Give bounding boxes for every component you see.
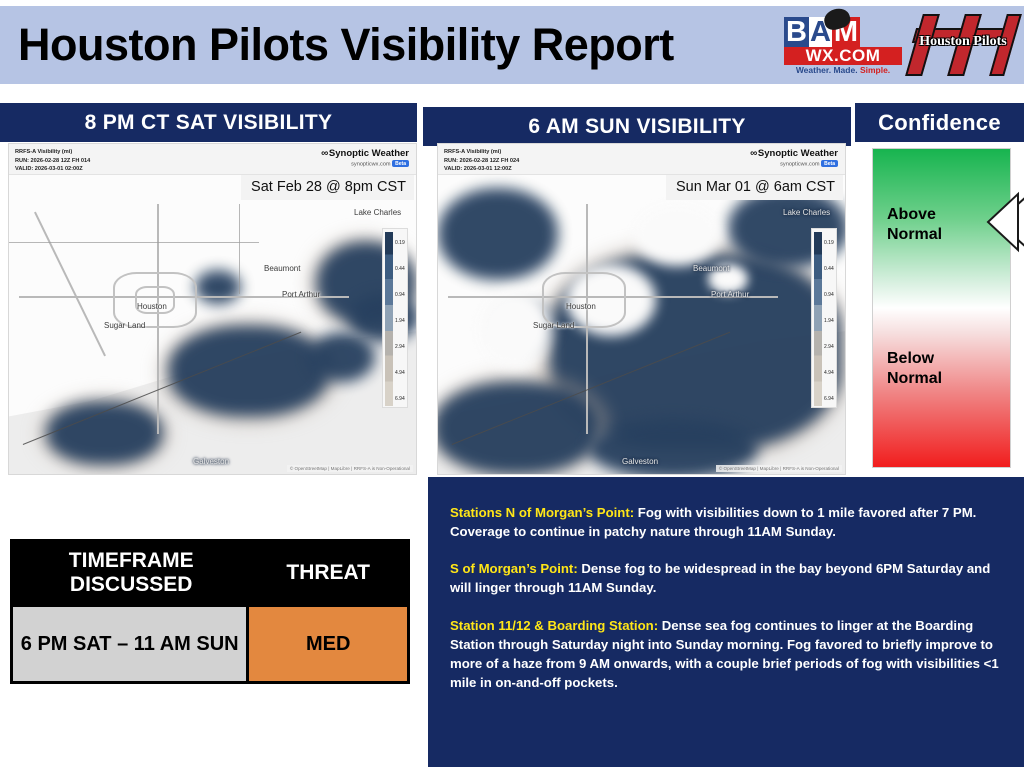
city-label-lake-charles: Lake Charles	[783, 208, 830, 217]
table-header-threat: THREAT	[249, 542, 407, 604]
city-label-port-arthur: Port Arthur	[711, 290, 749, 299]
bamwx-letter-b: B	[784, 17, 809, 47]
discussion-panel: Stations N of Morgan’s Point: Fog with v…	[428, 477, 1024, 767]
map-attribution-saturday: © OpenStreetMap | MapLibre | RRFS-A is N…	[287, 465, 413, 472]
tagline-simple: Simple.	[860, 65, 890, 75]
colorbar-gradient	[385, 232, 393, 406]
discussion-label-3: Station 11/12 & Boarding Station:	[450, 618, 658, 633]
logo-group: B A M WX.COM Weather. Made. Simple. Hous…	[774, 8, 1020, 82]
report-page: Houston Pilots Visibility Report B A M W…	[0, 0, 1024, 767]
panel-title-sun-visibility: 6 AM SUN VISIBILITY	[423, 107, 851, 146]
city-label-sugar-land: Sugar Land	[104, 321, 145, 330]
brand-name: ∞ Synoptic Weather	[750, 148, 838, 159]
meta-product: RRFS-A Visibility (mi)	[444, 148, 519, 157]
discussion-label-1: Stations N of Morgan’s Point:	[450, 505, 634, 520]
colorbar-tick-0: 0.19	[824, 240, 834, 246]
map-timestamp-sunday: Sun Mar 01 @ 6am CST	[666, 175, 843, 200]
colorbar-tick-6: 6.94	[824, 396, 834, 402]
county-line-2	[239, 204, 240, 294]
meta-product: RRFS-A Visibility (mi)	[15, 148, 90, 157]
infinity-icon: ∞	[750, 148, 755, 159]
brand-name: ∞ Synoptic Weather	[321, 148, 409, 159]
colorbar-tick-1: 0.44	[824, 266, 834, 272]
brand-url: synopticwx.com	[780, 162, 819, 168]
colorbar-ticks: 0.19 0.44 0.94 1.94 2.94 4.94 6.94	[395, 232, 409, 406]
city-label-beaumont: Beaumont	[693, 264, 729, 273]
city-label-port-arthur: Port Arthur	[282, 290, 320, 299]
confidence-label-above: Above Normal	[887, 205, 942, 245]
bamwx-domain: WX.COM	[784, 47, 902, 65]
map-attribution-sunday: © OpenStreetMap | MapLibre | RRFS-A is N…	[716, 465, 842, 472]
confidence-label-below: Below Normal	[887, 349, 942, 389]
header-timeframe-line2: DISCUSSED	[70, 573, 193, 596]
colorbar-tick-5: 4.94	[395, 370, 405, 376]
map-timestamp-saturday: Sat Feb 28 @ 8pm CST	[241, 175, 414, 200]
map-meta-strip: RRFS-A Visibility (mi) RUN: 2026-02-28 1…	[9, 144, 416, 175]
colorbar-tick-6: 6.94	[395, 396, 405, 402]
bamwx-logo: B A M WX.COM Weather. Made. Simple.	[774, 8, 902, 82]
colorbar-gradient	[814, 232, 822, 406]
meta-valid: VALID: 2026-03-01 12:00Z	[444, 165, 519, 174]
meta-valid: VALID: 2026-03-01 02:00Z	[15, 165, 90, 174]
visibility-colorbar-sunday: 0.19 0.44 0.94 1.94 2.94 4.94 6.94	[811, 228, 837, 408]
city-label-lake-charles: Lake Charles	[354, 208, 401, 217]
city-label-galveston: Galveston	[193, 457, 229, 466]
brand-name-text: Synoptic Weather	[758, 148, 838, 159]
infinity-icon: ∞	[321, 148, 326, 159]
brand-url-row: synopticwx.com Beta	[321, 160, 409, 168]
meta-run: RUN: 2026-02-28 12Z FH 014	[15, 157, 90, 166]
discussion-item-1: Stations N of Morgan’s Point: Fog with v…	[450, 503, 1002, 541]
colorbar-tick-3: 1.94	[395, 318, 405, 324]
city-label-galveston: Galveston	[622, 457, 658, 466]
visibility-map-saturday[interactable]: Houston Sugar Land Galveston Beaumont Po…	[8, 143, 417, 475]
city-label-beaumont: Beaumont	[264, 264, 300, 273]
page-title: Houston Pilots Visibility Report	[18, 19, 674, 71]
panel-title-confidence: Confidence	[855, 103, 1024, 142]
synoptic-brand: ∞ Synoptic Weather synopticwx.com Beta	[321, 148, 409, 168]
discussion-item-2: S of Morgan’s Point: Dense fog to be wid…	[450, 559, 1002, 597]
colorbar-tick-4: 2.94	[824, 344, 834, 350]
map-metadata: RRFS-A Visibility (mi) RUN: 2026-02-28 1…	[15, 148, 90, 174]
beta-badge: Beta	[821, 160, 838, 167]
timeframe-threat-table: TIMEFRAME DISCUSSED THREAT 6 PM SAT – 11…	[10, 539, 410, 684]
city-label-sugar-land: Sugar Land	[533, 321, 574, 330]
above-line-2: Normal	[887, 225, 942, 245]
visibility-colorbar-saturday: 0.19 0.44 0.94 1.94 2.94 4.94 6.94	[382, 228, 408, 408]
table-cell-threat: MED	[249, 604, 407, 681]
fog-blob-a6	[195, 270, 241, 304]
colorbar-ticks: 0.19 0.44 0.94 1.94 2.94 4.94 6.94	[824, 232, 838, 406]
header-timeframe-line1: TIMEFRAME	[69, 549, 194, 572]
synoptic-brand: ∞ Synoptic Weather synopticwx.com Beta	[750, 148, 838, 168]
colorbar-tick-5: 4.94	[824, 370, 834, 376]
fog-blob-a1	[169, 326, 329, 416]
colorbar-tick-2: 0.94	[395, 292, 405, 298]
colorbar-tick-3: 1.94	[824, 318, 834, 324]
city-label-houston: Houston	[566, 302, 596, 311]
meta-run: RUN: 2026-02-28 12Z FH 024	[444, 157, 519, 166]
colorbar-tick-4: 2.94	[395, 344, 405, 350]
confidence-pointer-icon	[982, 182, 1024, 262]
brand-url-row: synopticwx.com Beta	[750, 160, 838, 168]
visibility-map-sunday[interactable]: Houston Sugar Land Galveston Beaumont Po…	[437, 143, 846, 475]
bamwx-tagline: Weather. Made. Simple.	[784, 65, 902, 75]
colorbar-tick-1: 0.44	[395, 266, 405, 272]
colorbar-tick-0: 0.19	[395, 240, 405, 246]
tagline-weather: Weather.	[796, 65, 831, 75]
houston-pilots-label: Houston Pilots	[908, 34, 1018, 50]
below-line-1: Below	[887, 349, 942, 369]
fog-blob-a4	[309, 332, 375, 382]
fog-blob-b2	[438, 188, 558, 280]
beta-badge: Beta	[392, 160, 409, 167]
brand-name-text: Synoptic Weather	[329, 148, 409, 159]
road-beltway	[542, 272, 626, 328]
colorbar-tick-2: 0.94	[824, 292, 834, 298]
above-line-1: Above	[887, 205, 942, 225]
table-header-timeframe: TIMEFRAME DISCUSSED	[13, 542, 249, 604]
discussion-item-3: Station 11/12 & Boarding Station: Dense …	[450, 616, 1002, 693]
discussion-label-2: S of Morgan’s Point:	[450, 561, 578, 576]
houston-pilots-logo: Houston Pilots	[906, 8, 1020, 82]
table-cell-timeframe: 6 PM SAT – 11 AM SUN	[13, 604, 249, 681]
brand-url: synopticwx.com	[351, 162, 390, 168]
city-label-houston: Houston	[137, 302, 167, 311]
map-metadata: RRFS-A Visibility (mi) RUN: 2026-02-28 1…	[444, 148, 519, 174]
tagline-made: Made.	[833, 65, 857, 75]
county-line-1	[9, 242, 259, 243]
clear-pocket-b2	[634, 204, 720, 266]
page-header: Houston Pilots Visibility Report B A M W…	[0, 6, 1024, 84]
below-line-2: Normal	[887, 369, 942, 389]
map-meta-strip: RRFS-A Visibility (mi) RUN: 2026-02-28 1…	[438, 144, 845, 175]
panel-title-sat-visibility: 8 PM CT SAT VISIBILITY	[0, 103, 417, 142]
